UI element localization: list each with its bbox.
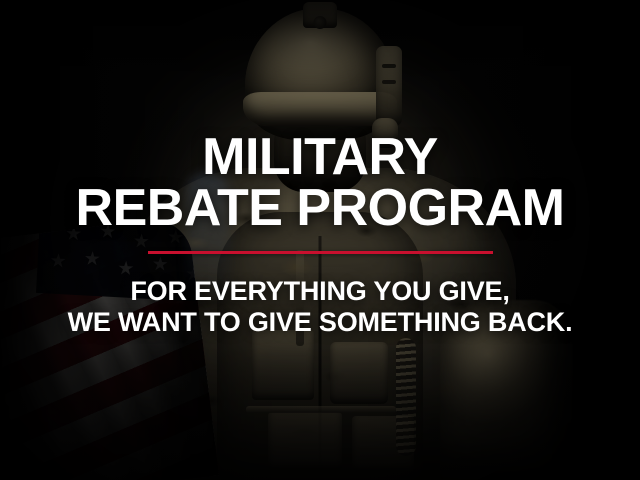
page-title: MILITARY REBATE PROGRAM — [76, 132, 565, 234]
military-rebate-banner: ★ ★ ★ ★ ★ ★ ★ ★ ★ ★ ★ ★ ★ ★ MILITARY — [0, 0, 640, 480]
subtitle: FOR EVERYTHING YOU GIVE, WE WANT TO GIVE… — [68, 276, 573, 339]
subtitle-line-1: FOR EVERYTHING YOU GIVE, — [68, 276, 573, 307]
subtitle-line-2: WE WANT TO GIVE SOMETHING BACK. — [68, 307, 573, 338]
accent-divider — [148, 251, 493, 254]
headline-line-1: MILITARY — [76, 132, 565, 183]
headline-line-2: REBATE PROGRAM — [76, 183, 565, 234]
text-overlay: MILITARY REBATE PROGRAM FOR EVERYTHING Y… — [0, 0, 640, 480]
